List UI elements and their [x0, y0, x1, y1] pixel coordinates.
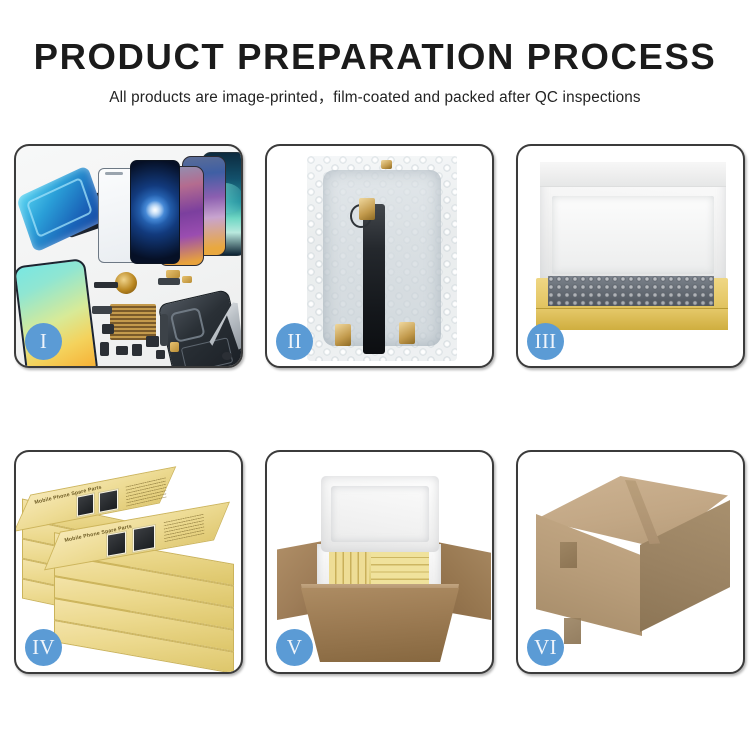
- step-badge-3: III: [527, 323, 564, 360]
- process-step-card-6[interactable]: VI: [516, 450, 745, 674]
- step-badge-4: IV: [25, 629, 62, 666]
- process-step-card-2[interactable]: II: [265, 144, 494, 368]
- process-step-card-3[interactable]: III: [516, 144, 745, 368]
- process-step-card-1[interactable]: I: [14, 144, 243, 368]
- step-badge-1: I: [25, 323, 62, 360]
- process-step-card-4[interactable]: Mobile Phone Spare Parts Mobile Phone Sp…: [14, 450, 243, 674]
- process-steps-grid: I II III: [14, 144, 744, 674]
- page-subtitle: All products are image-printed，film-coat…: [0, 85, 750, 107]
- step-badge-6: VI: [527, 629, 564, 666]
- process-step-card-5[interactable]: V: [265, 450, 494, 674]
- step-badge-5: V: [276, 629, 313, 666]
- page-title: PRODUCT PREPARATION PROCESS: [0, 38, 750, 76]
- page-header: PRODUCT PREPARATION PROCESS All products…: [0, 0, 750, 107]
- step-badge-2: II: [276, 323, 313, 360]
